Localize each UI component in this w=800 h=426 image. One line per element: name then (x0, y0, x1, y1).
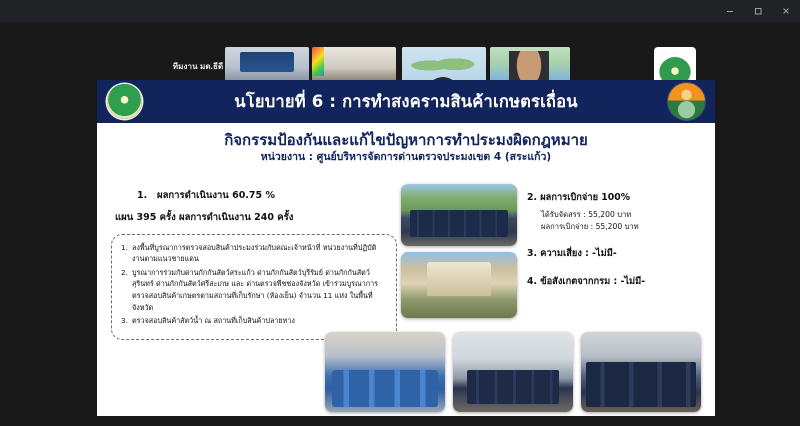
maximize-button[interactable] (744, 0, 772, 22)
slide-body: 1.ผลการดำเนินงาน 60.75 % แผน 395 ครั้ง ผ… (97, 166, 715, 417)
slide-agency: หน่วยงาน : ศูนย์บริหารจัดการด่านตรวจประม… (97, 150, 715, 166)
thai-royal-seal-icon (107, 84, 142, 119)
kpi-item-1-label: ผลการดำเนินงาน 60.75 % (157, 190, 275, 201)
province-seal-icon (668, 83, 705, 120)
minimize-button[interactable] (716, 0, 744, 22)
photo-market-inspection (325, 332, 445, 412)
activity-item: ลงพื้นที่บูรณาการตรวจสอบสินค้าประมงร่วมก… (121, 242, 387, 265)
kpi-item-2-disbursed: ผลการเบิกจ่าย : 55,200 บาท (527, 221, 707, 233)
close-button[interactable] (772, 0, 800, 22)
kpi-item-3-risk: 3. ความเสี่ยง : -ไม่มี- (527, 246, 707, 261)
slide-title: นโยบายที่ 6 : การทำสงครามสินค้าเกษตรเถื่… (234, 89, 577, 115)
activity-item: บูรณาการร่วมกับด่านกักกันสัตว์สระแก้ว ด่… (121, 267, 387, 314)
photo-warehouse-inspection (581, 332, 701, 412)
slide-header-bar: นโยบายที่ 6 : การทำสงครามสินค้าเกษตรเถื่… (97, 80, 715, 123)
kpi-item-1-detail: แผน 395 ครั้ง ผลการดำเนินงาน 240 ครั้ง (111, 210, 407, 225)
window-titlebar (0, 0, 800, 22)
presentation-slide: นโยบายที่ 6 : การทำสงครามสินค้าเกษตรเถื่… (97, 80, 715, 416)
slide-subtitle: กิจกรรมป้องกันและแก้ไขปัญหาการทำประมงผิด… (97, 131, 715, 150)
left-column: 1.ผลการดำเนินงาน 60.75 % แผน 395 ครั้ง ผ… (111, 188, 407, 340)
kpi-item-1: 1.ผลการดำเนินงาน 60.75 % (111, 188, 407, 203)
slide-subtitle-block: กิจกรรมป้องกันและแก้ไขปัญหาการทำประมงผิด… (97, 123, 715, 166)
kpi-item-1-number: 1. (137, 190, 157, 201)
photo-border-gate (401, 252, 517, 318)
right-column: 2. ผลการเบิกจ่าย 100% ได้รับจัดสรร : 55,… (527, 190, 707, 290)
kpi-item-2-allocated: ได้รับจัดสรร : 55,200 บาท (527, 209, 707, 221)
photo-officer-group (401, 184, 517, 246)
kpi-item-4-remarks: 4. ข้อสังเกตจากกรม : -ไม่มี- (527, 274, 707, 289)
kpi-item-2: 2. ผลการเบิกจ่าย 100% (527, 190, 707, 205)
video-thumbnail-strip: ทีมงาน มต.ธีดี ⏿ ทีมงาน มต.ธีดี สำนักงาน… (0, 22, 800, 80)
activity-item: ตรวจสอบสินค้าสัตว์น้ำ ณ สถานที่เก็บสินค้… (121, 315, 387, 327)
app-root: ทีมงาน มต.ธีดี ⏿ ทีมงาน มต.ธีดี สำนักงาน… (0, 0, 800, 426)
photo-truck-inspection (453, 332, 573, 412)
activities-box: ลงพื้นที่บูรณาการตรวจสอบสินค้าประมงร่วมก… (111, 234, 397, 340)
